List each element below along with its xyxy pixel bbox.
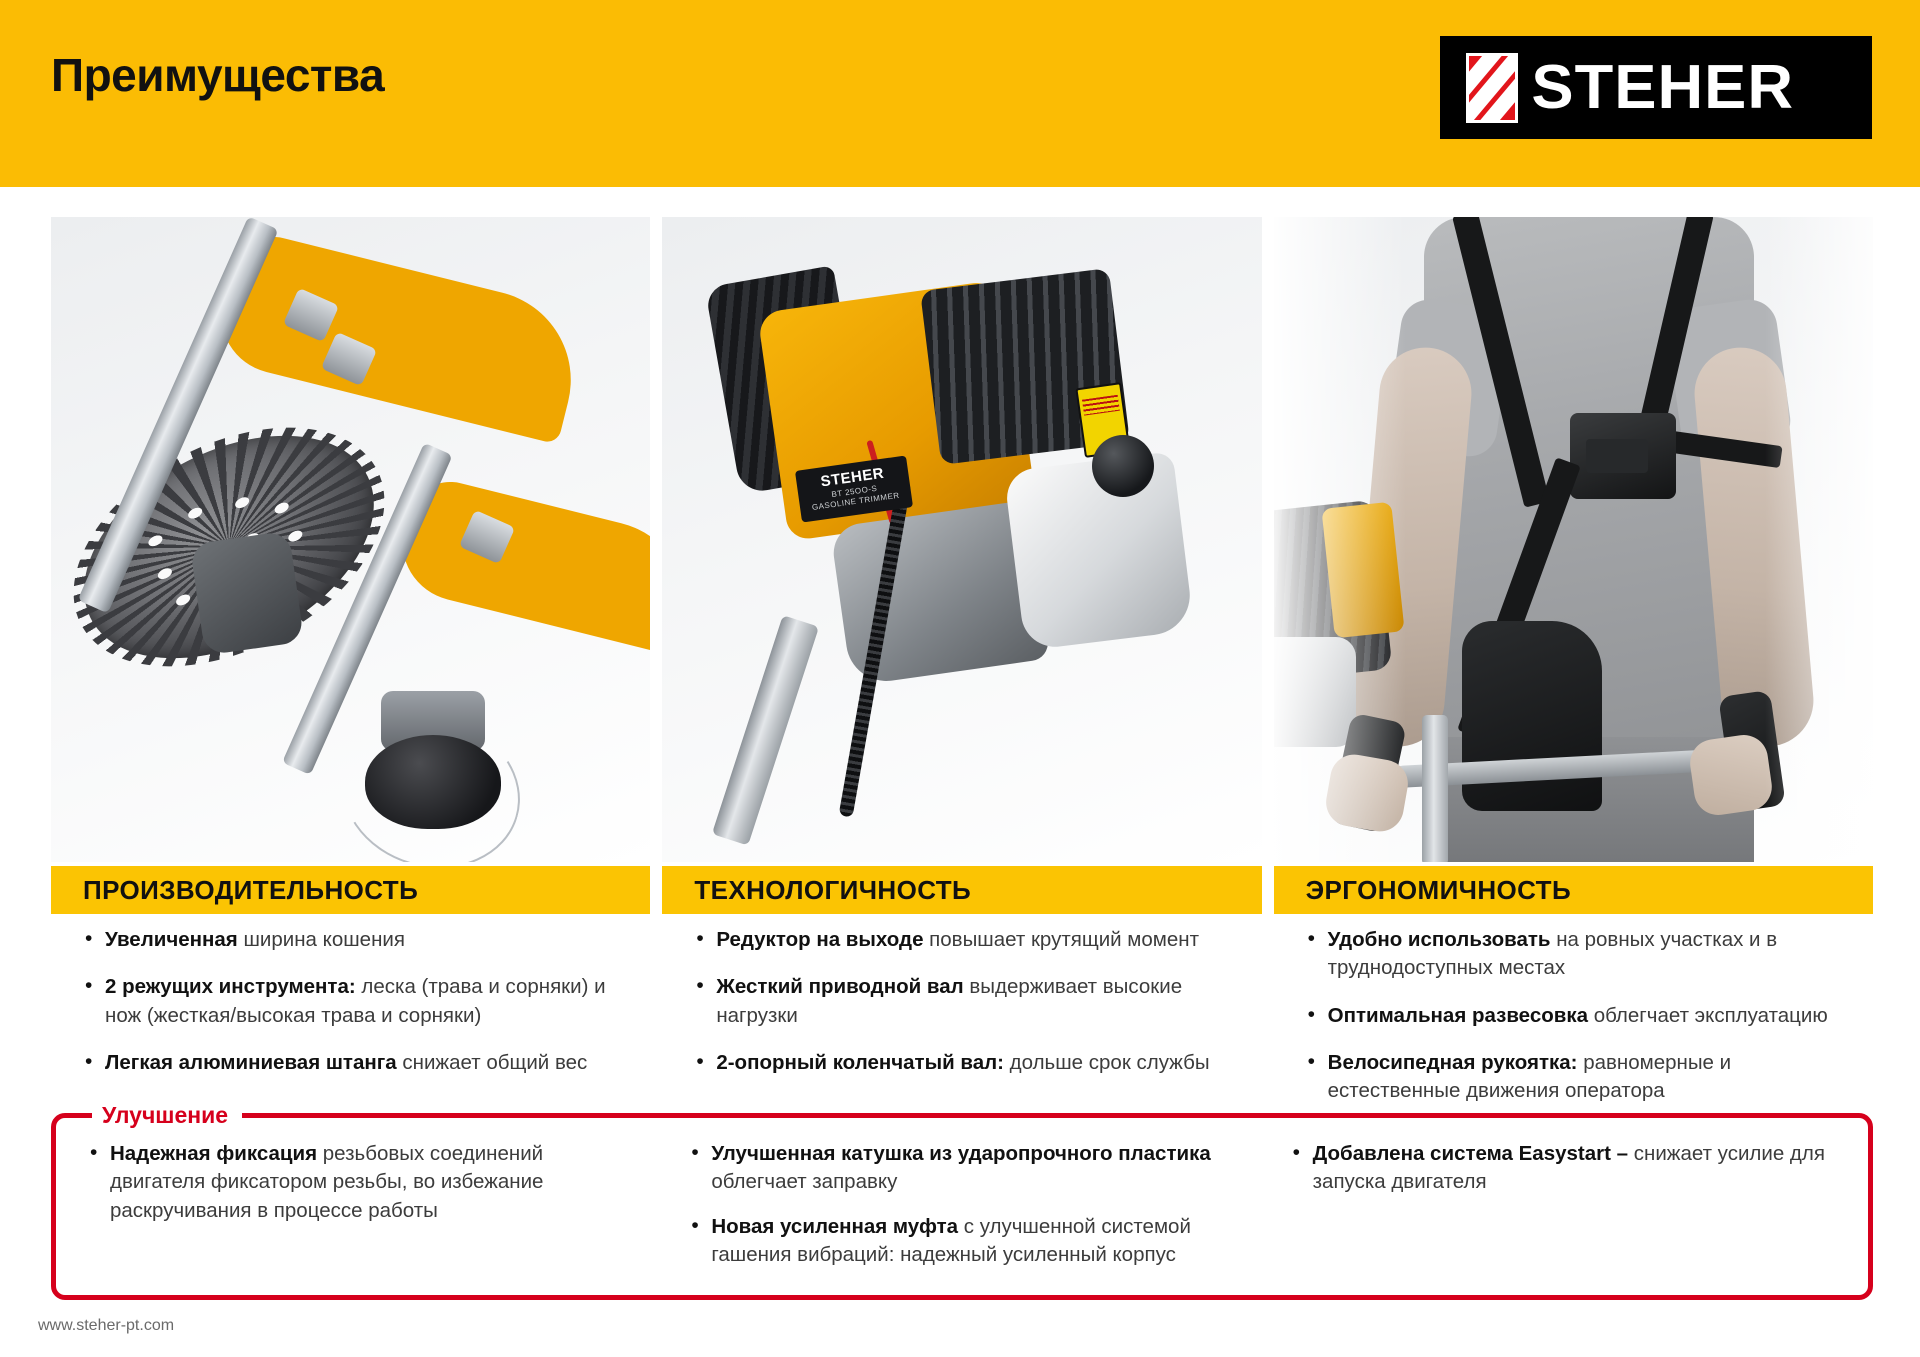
section-heading-ergonomics: ЭРГОНОМИЧНОСТЬ [1274, 866, 1873, 914]
list-item: Редуктор на выходе повышает крутящий мом… [694, 926, 1245, 954]
section-heading-performance: ПРОИЗВОДИТЕЛЬНОСТЬ [51, 866, 650, 914]
improvement-columns: Надежная фиксация резьбовых соединений д… [56, 1140, 1868, 1285]
drive-shaft-graphic [712, 615, 819, 845]
section-heading-row: ПРОИЗВОДИТЕЛЬНОСТЬ ТЕХНОЛОГИЧНОСТЬ ЭРГОН… [51, 866, 1873, 914]
advantages-infographic: Преимущества STEHER [0, 0, 1920, 1357]
list-item-emphasis: Улучшенная катушка из ударопрочного плас… [711, 1142, 1210, 1165]
list-item-emphasis: Велосипедная рукоятка: [1328, 1051, 1578, 1074]
footer-website-url: www.steher-pt.com [38, 1317, 174, 1335]
engine-unit-photo: STEHER BT 25OO-S GASOLINE TRIMMER [662, 217, 1261, 862]
feature-list: Редуктор на выходе повышает крутящий мом… [694, 926, 1245, 1077]
list-item-emphasis: Новая усиленная муфта [711, 1215, 958, 1238]
list-item-text: облегчает эксплуатацию [1588, 1004, 1828, 1027]
list-item: Велосипедная рукоятка: равномерные и ест… [1306, 1049, 1857, 1106]
section-heading-label: ТЕХНОЛОГИЧНОСТЬ [694, 875, 971, 906]
improvement-column-3: Добавлена система Easystart – снижает ус… [1269, 1140, 1858, 1285]
shaft-pole-graphic [1422, 715, 1448, 862]
list-item-text: повышает крутящий момент [923, 928, 1199, 951]
list-item-emphasis: Оптимальная развесовка [1328, 1004, 1588, 1027]
list-item-emphasis: Удобно использовать [1328, 928, 1551, 951]
list-item-emphasis: Добавлена система Easystart – [1313, 1142, 1628, 1165]
improvement-label: Улучшение [92, 1098, 242, 1132]
list-item: Добавлена система Easystart – снижает ус… [1291, 1140, 1844, 1197]
page-header: Преимущества STEHER [0, 0, 1920, 187]
list-item: Жесткий приводной вал выдерживает высоки… [694, 973, 1245, 1030]
feature-columns: Увеличенная ширина кошения2 режущих инст… [51, 926, 1873, 1086]
list-item: Увеличенная ширина кошения [83, 926, 634, 954]
steher-wordmark: STEHER [1531, 57, 1794, 119]
gearbox-graphic [190, 531, 305, 656]
list-item-text: ширина кошения [238, 928, 405, 951]
cutting-attachments-photo [51, 217, 650, 862]
list-item-emphasis: 2-опорный коленчатый вал: [716, 1051, 1004, 1074]
improvement-list: Добавлена система Easystart – снижает ус… [1291, 1140, 1844, 1197]
fuel-cap-graphic [1092, 435, 1154, 497]
steher-logo-mark-icon [1466, 53, 1518, 123]
list-item-emphasis: Легкая алюминиевая штанга [105, 1051, 397, 1074]
list-item: Улучшенная катушка из ударопрочного плас… [689, 1140, 1242, 1197]
feature-column-technology: Редуктор на выходе повышает крутящий мом… [662, 926, 1261, 1086]
improvement-box: Улучшение Надежная фиксация резьбовых со… [51, 1113, 1873, 1300]
list-item-emphasis: Редуктор на выходе [716, 928, 923, 951]
list-item-text: снижает общий вес [397, 1051, 588, 1074]
page-title: Преимущества [51, 52, 384, 98]
operator-left-hand-graphic [1322, 751, 1411, 835]
improvement-column-2: Улучшенная катушка из ударопрочного плас… [667, 1140, 1256, 1285]
carried-engine-cover-graphic [1321, 502, 1404, 639]
section-heading-technology: ТЕХНОЛОГИЧНОСТЬ [662, 866, 1261, 914]
steher-logo: STEHER [1440, 36, 1872, 139]
list-item-emphasis: Надежная фиксация [110, 1142, 317, 1165]
harness-buckle-graphic [1570, 413, 1676, 499]
list-item-emphasis: Жесткий приводной вал [716, 975, 963, 998]
list-item: Оптимальная развесовка облегчает эксплуа… [1306, 1002, 1857, 1030]
improvement-list: Улучшенная катушка из ударопрочного плас… [689, 1140, 1242, 1269]
operator-right-hand-graphic [1687, 732, 1775, 818]
operator-harness-photo [1274, 217, 1873, 862]
feature-list: Удобно использовать на ровных участках и… [1306, 926, 1857, 1105]
list-item: Удобно использовать на ровных участках и… [1306, 926, 1857, 983]
list-item-emphasis: Увеличенная [105, 928, 238, 951]
list-item-text: дольше срок службы [1004, 1051, 1210, 1074]
list-item: Надежная фиксация резьбовых соединений д… [88, 1140, 641, 1225]
feature-column-performance: Увеличенная ширина кошения2 режущих инст… [51, 926, 650, 1086]
carried-fuel-tank-graphic [1274, 637, 1356, 747]
improvement-list: Надежная фиксация резьбовых соединений д… [88, 1140, 641, 1225]
list-item: 2-опорный коленчатый вал: дольше срок сл… [694, 1049, 1245, 1077]
section-heading-label: ПРОИЗВОДИТЕЛЬНОСТЬ [83, 875, 418, 906]
improvement-column-1: Надежная фиксация резьбовых соединений д… [66, 1140, 655, 1285]
list-item-text: облегчает заправку [711, 1170, 897, 1193]
trimmer-head-graphic [365, 735, 501, 829]
list-item: Легкая алюминиевая штанга снижает общий … [83, 1049, 634, 1077]
photo-strip: STEHER BT 25OO-S GASOLINE TRIMMER [51, 217, 1873, 862]
section-heading-label: ЭРГОНОМИЧНОСТЬ [1306, 875, 1571, 906]
list-item-emphasis: 2 режущих инструмента: [105, 975, 356, 998]
list-item: Новая усиленная муфта с улучшенной систе… [689, 1213, 1242, 1270]
feature-column-ergonomics: Удобно использовать на ровных участках и… [1274, 926, 1873, 1086]
feature-list: Увеличенная ширина кошения2 режущих инст… [83, 926, 634, 1077]
list-item: 2 режущих инструмента: леска (трава и со… [83, 973, 634, 1030]
